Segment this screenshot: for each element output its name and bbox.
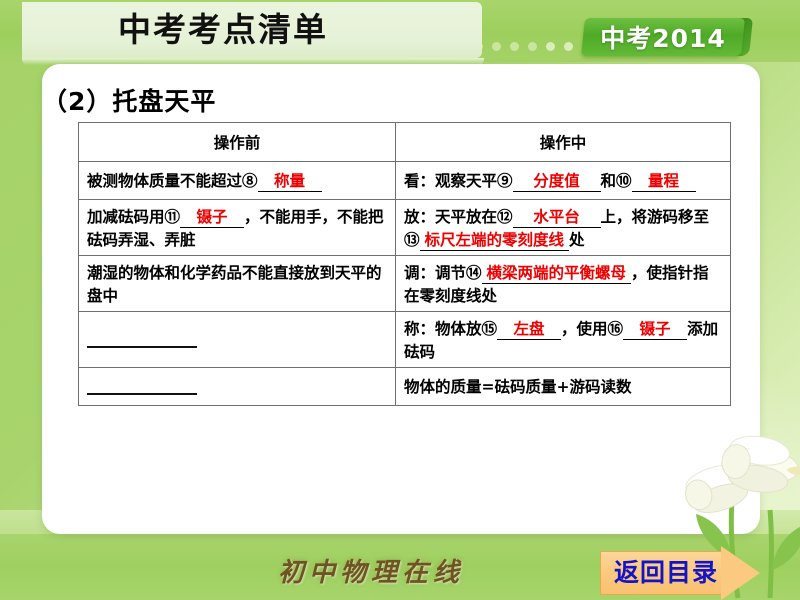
table-header-row: 操作前 操作中 (79, 123, 731, 162)
table-cell-left: 潮湿的物体和化学药品不能直接放到天平的盘中 (79, 256, 396, 312)
header: 中考考点清单 中考2014 (0, 0, 800, 70)
knowledge-point-table: 操作前 操作中 被测物体质量不能超过⑧称量看：观察天平⑨分度值和⑩量程加减砝码用… (78, 122, 731, 406)
circled-number: ⑫ (497, 207, 513, 226)
table-row: 物体的质量=砝码质量+游码读数 (79, 368, 731, 406)
cell-text: 看：观察天平 (404, 171, 497, 190)
circled-number: ⑧ (242, 171, 258, 190)
circled-number: ⑮ (482, 319, 498, 338)
table-cell-right: 物体的质量=砝码质量+游码读数 (396, 368, 731, 406)
table-cell-left (79, 312, 396, 368)
answer-text: 左盘 (497, 319, 561, 340)
table-cell-left: 被测物体质量不能超过⑧称量 (79, 162, 396, 200)
table-cell-right: 称：物体放⑮左盘，使用⑯镊子添加砝码 (396, 312, 731, 368)
cell-text: ，使用 (561, 319, 608, 338)
blank-answer-line (87, 381, 197, 395)
table-row: 加减砝码用⑪镊子，不能用手，不能把砝码弄湿、弄脏放：天平放在⑫水平台上，将游码移… (79, 200, 731, 256)
table-cell-right: 调：调节⑭横梁两端的平衡螺母，使指针指在零刻度线处 (396, 256, 731, 312)
answer-text: 水平台 (513, 207, 601, 228)
column-header-during: 操作中 (396, 123, 731, 162)
cell-text: 加减砝码用 (87, 207, 165, 226)
answer-text: 横梁两端的平衡螺母 (482, 263, 632, 284)
circled-number: ⑪ (165, 207, 181, 226)
site-watermark: 初中物理在线 (278, 552, 464, 589)
answer-text: 标尺左端的零刻度线 (420, 230, 570, 251)
table-cell-left: 加减砝码用⑪镊子，不能用手，不能把砝码弄湿、弄脏 (79, 200, 396, 256)
cell-text: 调：调节 (404, 263, 466, 282)
cell-text: 潮湿的物体和化学药品不能直接放到天平的盘中 (87, 263, 382, 305)
table-cell-right: 看：观察天平⑨分度值和⑩量程 (396, 162, 731, 200)
answer-text: 镊子 (180, 207, 244, 228)
table-row: 被测物体质量不能超过⑧称量看：观察天平⑨分度值和⑩量程 (79, 162, 731, 200)
circled-number: ⑭ (466, 263, 482, 282)
arrow-right-icon (721, 546, 760, 600)
circled-number: ⑩ (616, 171, 632, 190)
page-title: 中考考点清单 (118, 8, 328, 52)
answer-text: 分度值 (513, 171, 601, 192)
cell-text: 物体的质量=砝码质量+游码读数 (404, 377, 631, 396)
column-header-before: 操作前 (79, 123, 396, 162)
table-row: 潮湿的物体和化学药品不能直接放到天平的盘中调：调节⑭横梁两端的平衡螺母，使指针指… (79, 256, 731, 312)
table-row: 称：物体放⑮左盘，使用⑯镊子添加砝码 (79, 312, 731, 368)
cell-text: 被测物体质量不能超过 (87, 171, 242, 190)
exam-year-badge-label: 中考2014 (583, 18, 743, 56)
cell-text: 称：物体放 (404, 319, 482, 338)
cell-text: 放：天平放在 (404, 207, 497, 226)
answer-text: 镊子 (623, 319, 687, 340)
slide-canvas: 中考考点清单 中考2014 （2）托盘天平 操作前 操作中 被测物体质量不能超过… (0, 0, 800, 600)
table-cell-left (79, 368, 396, 406)
answer-text: 量程 (632, 171, 696, 192)
circled-number: ⑬ (404, 230, 420, 249)
exam-year-badge: 中考2014 (581, 18, 745, 56)
cell-text: 和 (601, 171, 617, 190)
answer-text: 称量 (258, 171, 322, 192)
blank-answer-line (87, 334, 197, 348)
circled-number: ⑯ (608, 319, 624, 338)
return-to-contents-button[interactable]: 返回目录 (600, 551, 760, 595)
return-button-label: 返回目录 (610, 557, 722, 589)
circled-number: ⑨ (497, 171, 513, 190)
cell-text: 处 (569, 230, 585, 249)
cell-text: 上，将游码移至 (601, 207, 710, 226)
table-cell-right: 放：天平放在⑫水平台上，将游码移至⑬标尺左端的零刻度线处 (396, 200, 731, 256)
section-heading: （2）托盘天平 (42, 82, 216, 118)
